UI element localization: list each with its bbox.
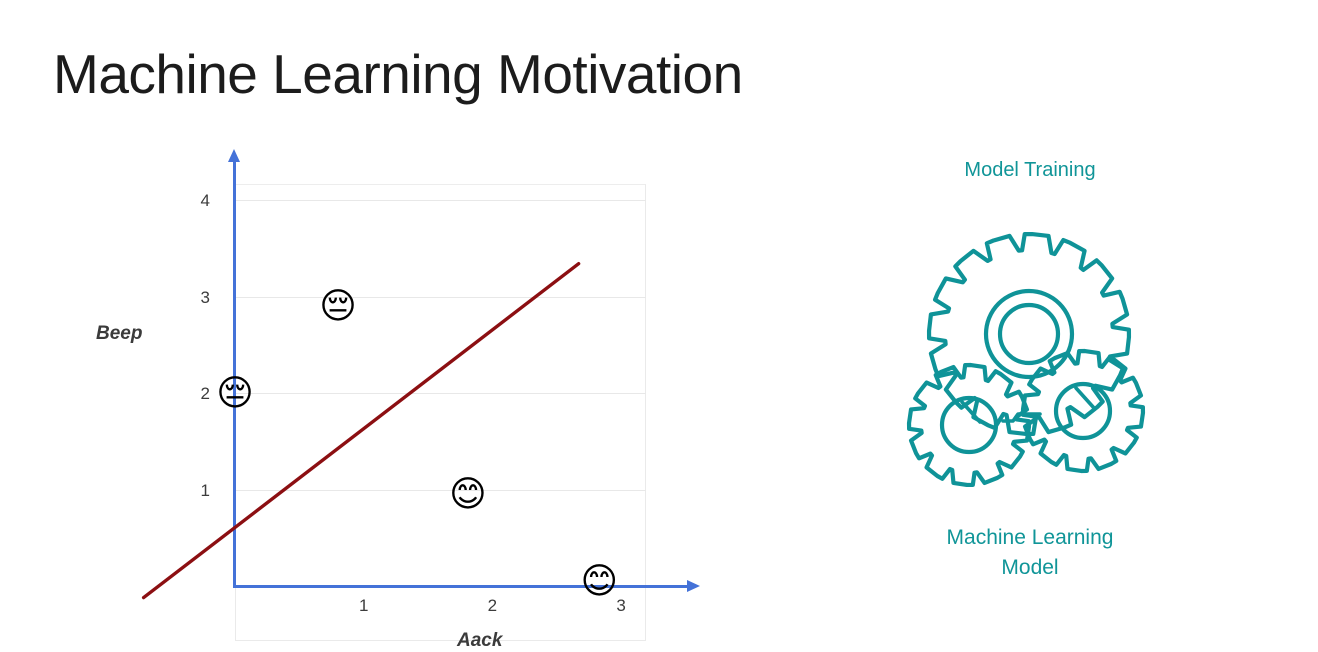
- scatter-chart: 1234 123 Beep Aack 😔😔😊😊: [0, 130, 760, 651]
- model-training-label: Model Training: [845, 160, 1215, 180]
- y-axis-tick-label: 3: [188, 289, 210, 306]
- y-axis-title: Beep: [96, 323, 142, 345]
- x-axis-title: Aack: [457, 630, 502, 652]
- y-axis-tick-label: 4: [188, 192, 210, 209]
- page-title: Machine Learning Motivation: [53, 47, 743, 102]
- trendline: [0, 130, 760, 651]
- machine-learning-model-label: Machine Learning Model: [845, 523, 1215, 583]
- y-axis-tick-label: 1: [188, 482, 210, 499]
- x-axis-tick-label: 2: [481, 597, 503, 614]
- pensive-face-emoji: 😔: [317, 286, 358, 327]
- pensive-face-emoji: 😔: [215, 373, 256, 414]
- smiling-face-emoji: 😊: [447, 474, 488, 515]
- ml-model-label-line1: Machine Learning: [845, 523, 1215, 553]
- ml-model-label-line2: Model: [845, 553, 1215, 583]
- y-axis-tick-label: 2: [188, 385, 210, 402]
- machine-learning-panel: Model Training Machine Learning: [845, 160, 1215, 590]
- smiling-face-emoji: 😊: [579, 561, 620, 602]
- three-gears-icon: [901, 222, 1161, 487]
- x-axis-tick-label: 1: [353, 597, 375, 614]
